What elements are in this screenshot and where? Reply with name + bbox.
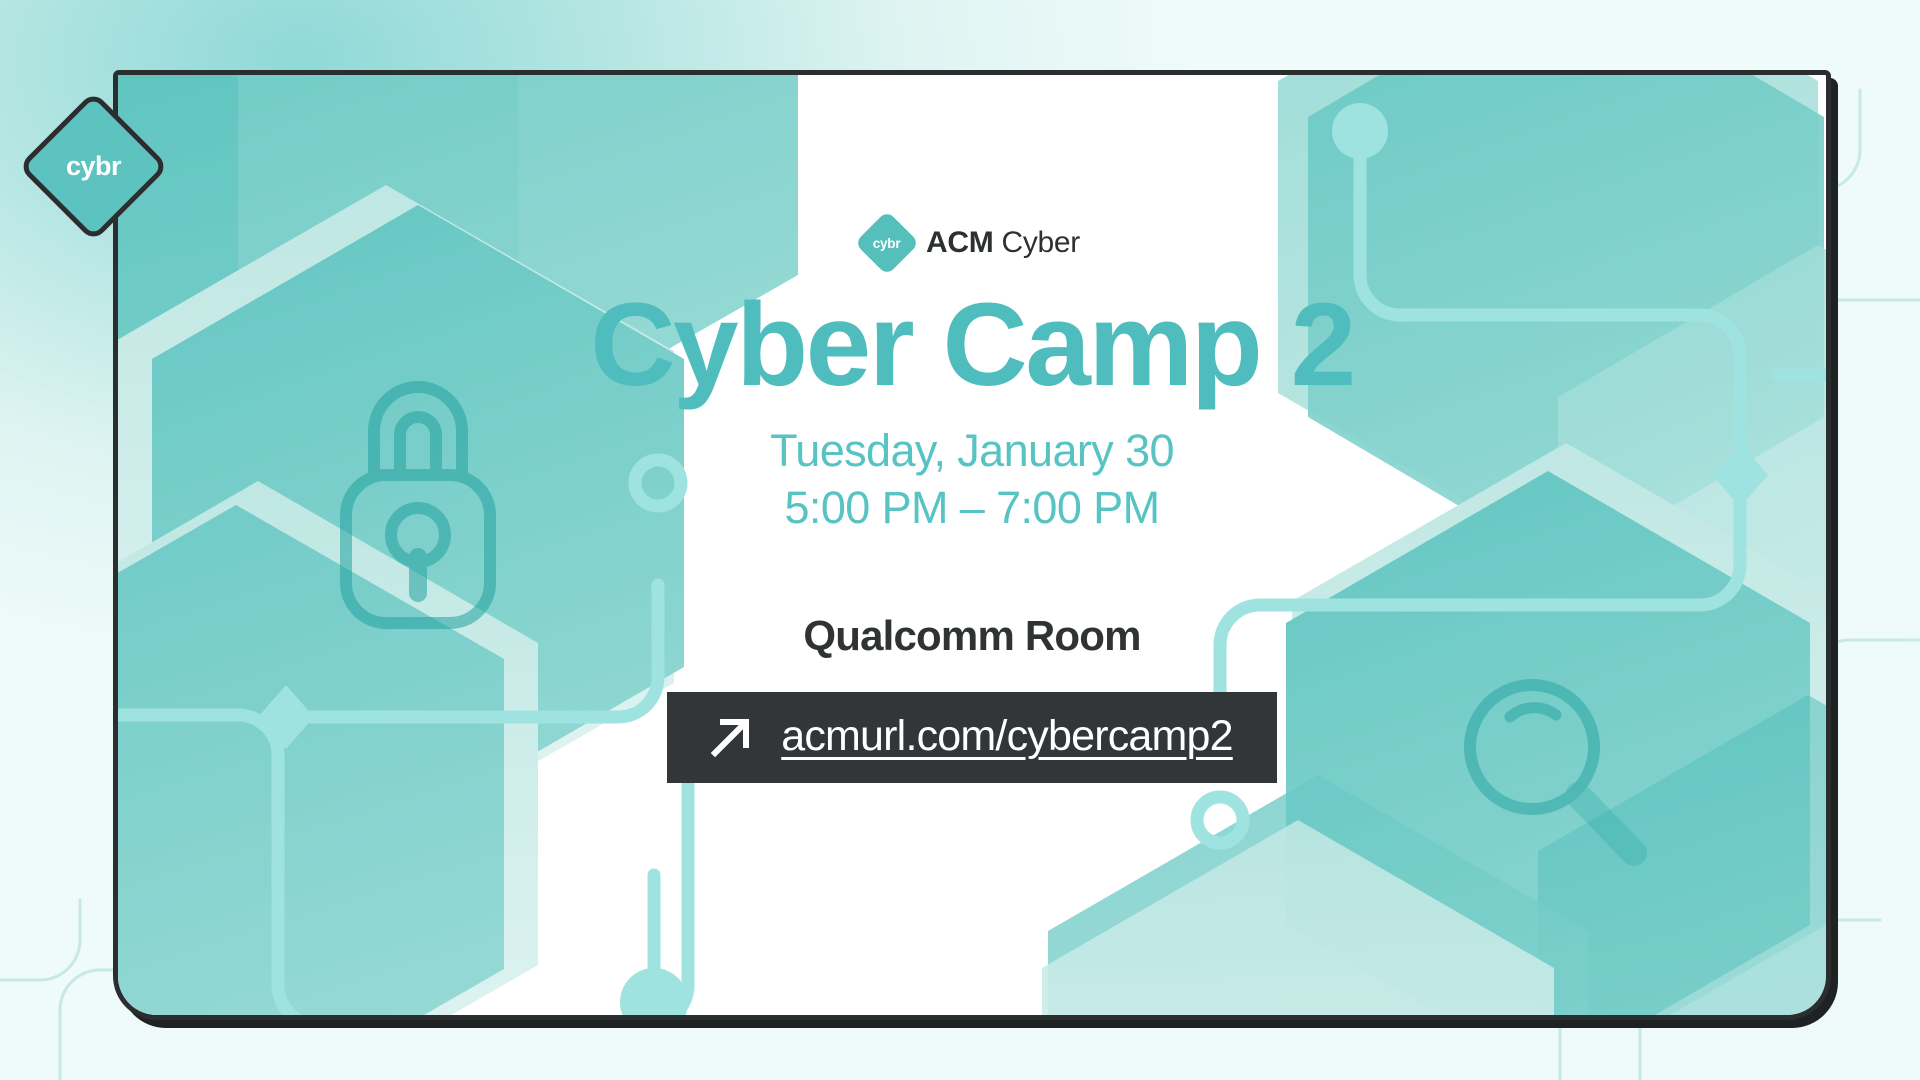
acm-cyber-logo-icon: cybr	[854, 210, 919, 275]
event-date: Tuesday, January 30	[770, 422, 1174, 480]
poster-card: cybr ACM Cyber Cyber Camp 2 Tuesday, Jan…	[113, 70, 1831, 1020]
arrow-up-right-icon	[707, 713, 755, 761]
brand-mark-label: cybr	[873, 236, 901, 251]
corner-badge-label: cybr	[66, 151, 121, 182]
event-location: Qualcomm Room	[803, 612, 1140, 660]
brand-lockup: cybr ACM Cyber	[864, 220, 1080, 266]
cta-link-button[interactable]: acmurl.com/cybercamp2	[667, 692, 1277, 783]
card-artwork	[118, 75, 1826, 1015]
poster-stage: cybr ACM Cyber Cyber Camp 2 Tuesday, Jan…	[0, 0, 1920, 1080]
event-time: 5:00 PM – 7:00 PM	[770, 479, 1174, 537]
event-title: Cyber Camp 2	[590, 284, 1354, 408]
brand-name-light: Cyber	[1001, 226, 1080, 259]
cta-link-label[interactable]: acmurl.com/cybercamp2	[781, 712, 1233, 761]
brand-name: ACM Cyber	[926, 226, 1080, 260]
event-datetime: Tuesday, January 30 5:00 PM – 7:00 PM	[770, 422, 1174, 537]
brand-name-bold: ACM	[926, 226, 993, 259]
